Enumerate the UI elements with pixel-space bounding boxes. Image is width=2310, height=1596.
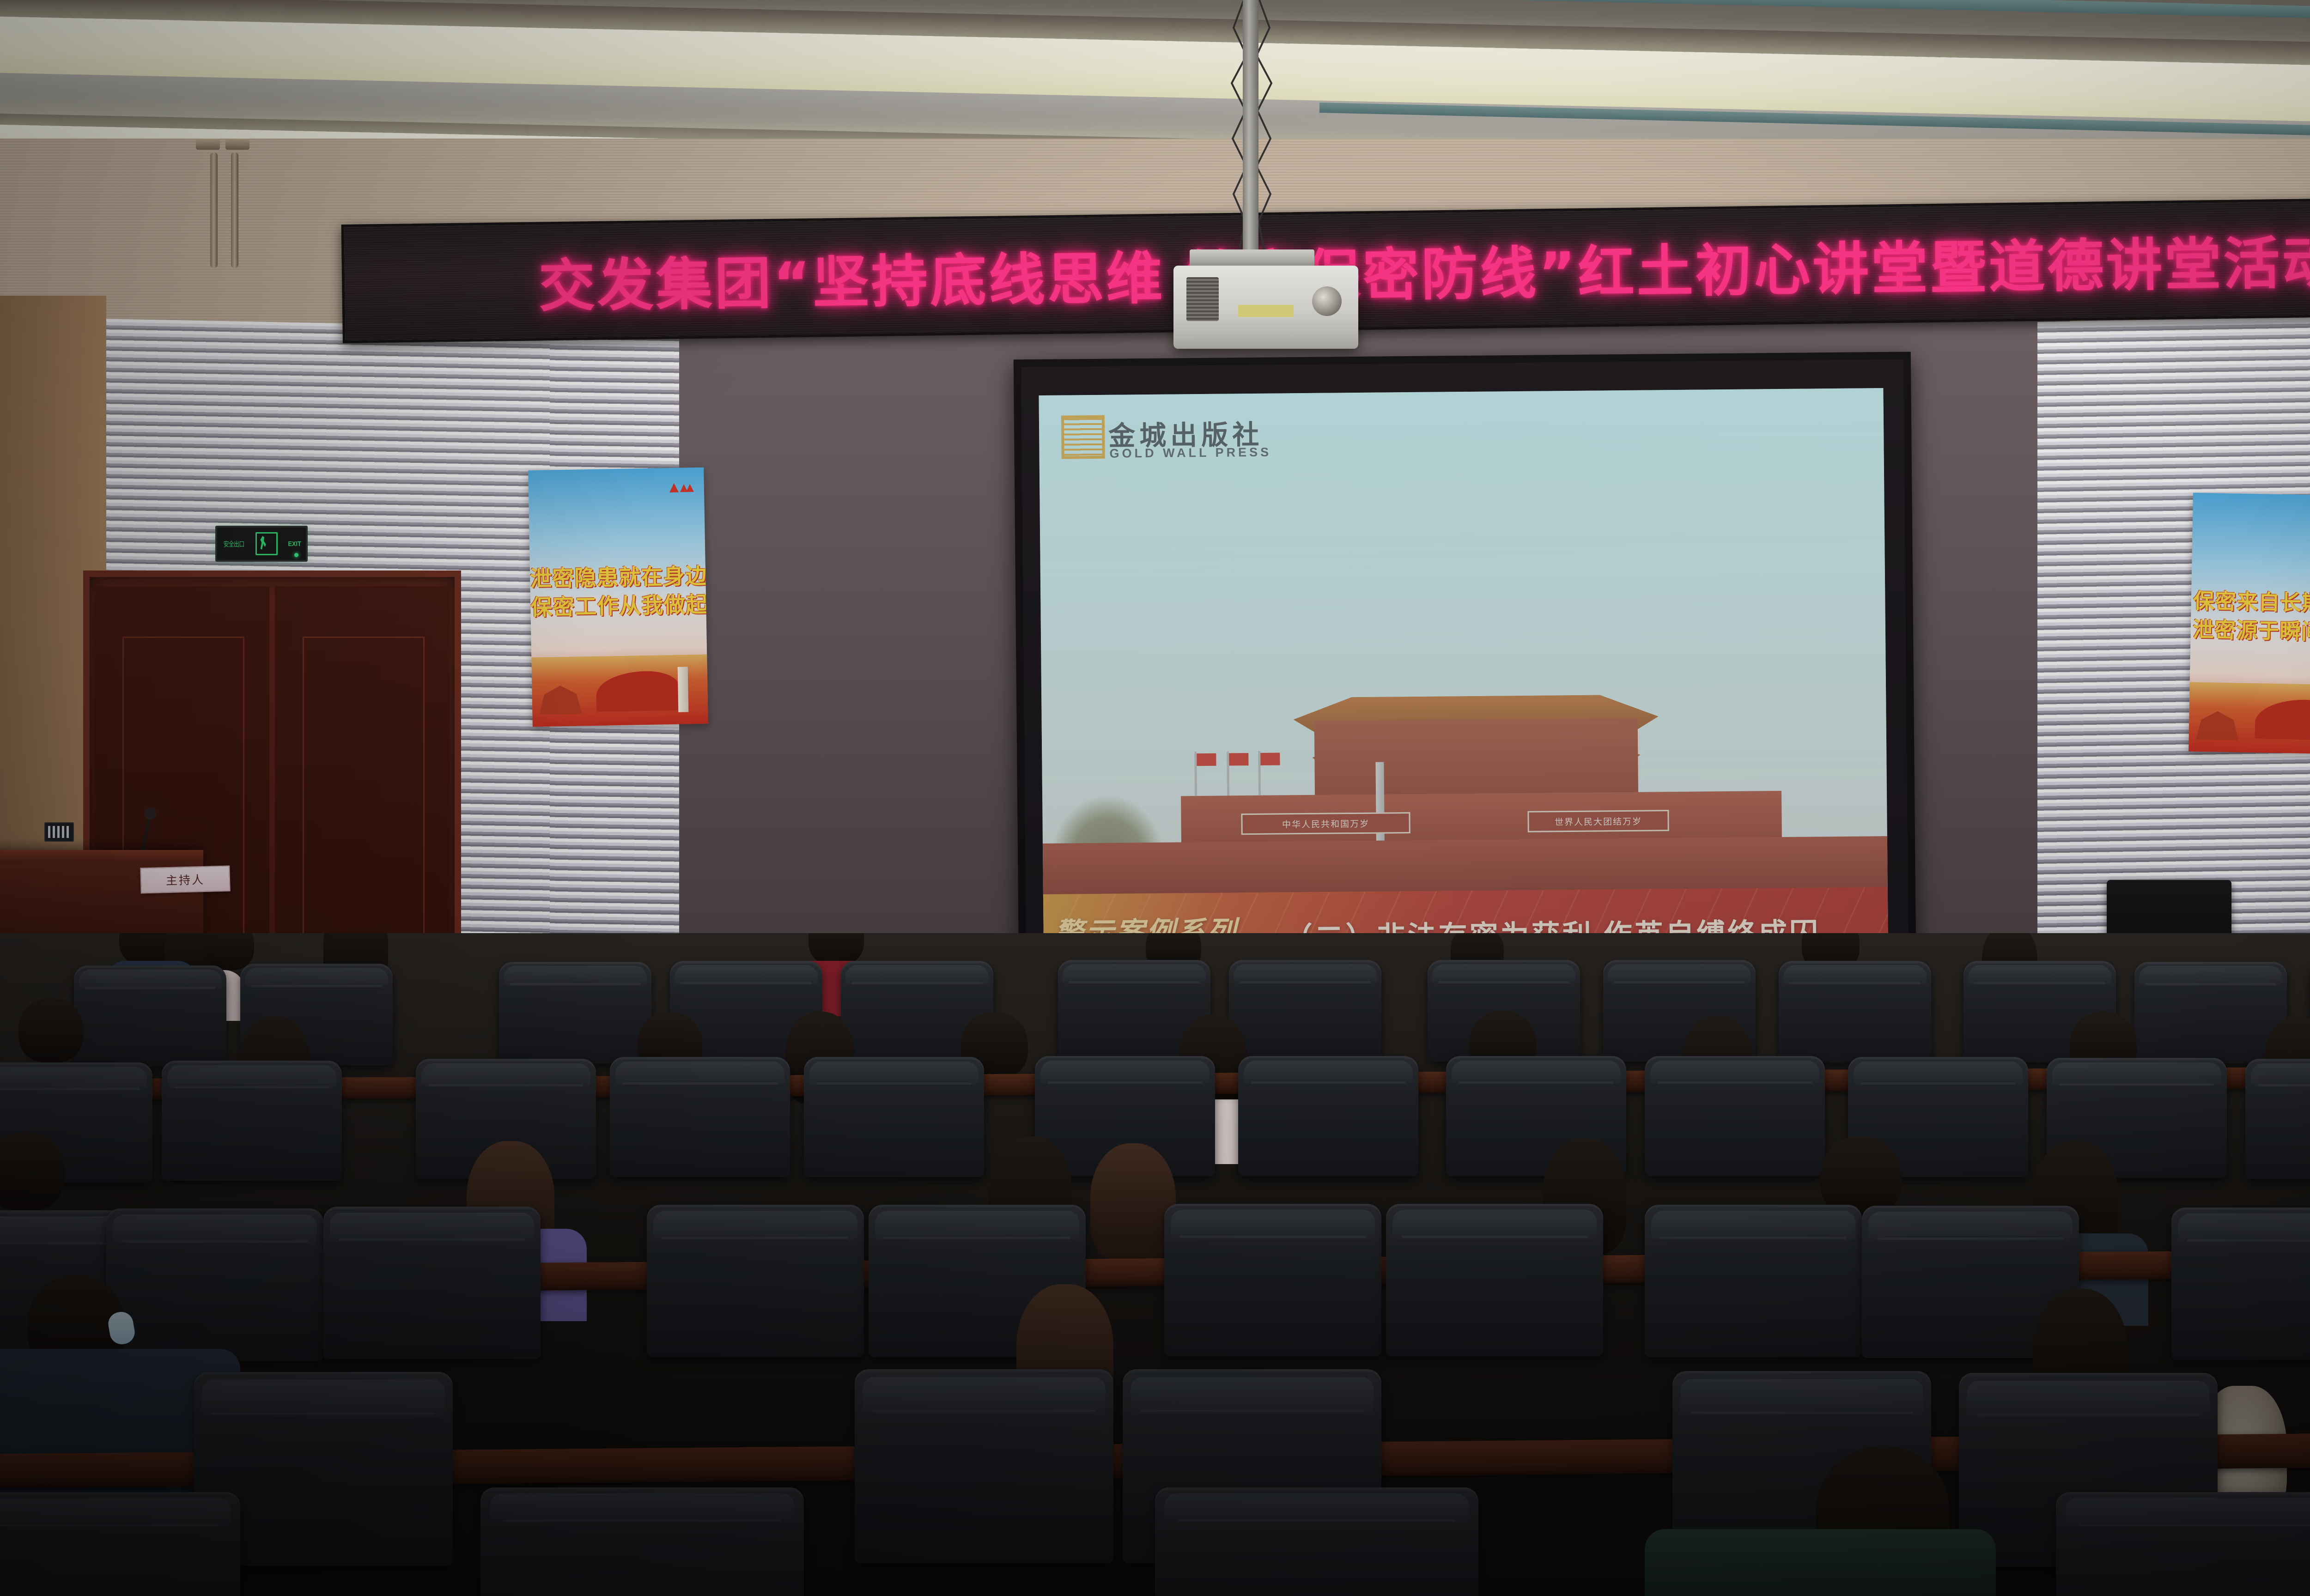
poster-column-graphic: [678, 667, 689, 712]
exit-label-en: EXIT: [288, 540, 301, 548]
auditorium-seat[interactable]: [1645, 1056, 1825, 1176]
door-handle-right[interactable]: [231, 152, 238, 268]
auditorium-seat[interactable]: [74, 965, 226, 1067]
audience-head: [1090, 1143, 1176, 1261]
projector-label: [1238, 305, 1294, 317]
projector-lens: [1312, 286, 1342, 316]
auditorium-seat[interactable]: [162, 1061, 342, 1181]
auditorium-seat[interactable]: [1779, 961, 1931, 1062]
auditorium-seat[interactable]: [2134, 962, 2287, 1063]
auditorium-seat[interactable]: [106, 1208, 323, 1361]
exit-label-cn: 安全出口: [224, 539, 244, 549]
birds-icon: ▲▴▴: [666, 478, 692, 497]
auditorium-seat[interactable]: [2245, 1059, 2310, 1179]
exit-status-led-icon: [294, 553, 298, 557]
slogan-board-left: 中华人民共和国万岁: [1241, 812, 1410, 835]
auditorium-seat[interactable]: [2171, 1208, 2310, 1360]
auditorium-seat[interactable]: [1229, 960, 1381, 1062]
wall-poster-right: ▲▴▴ 保密来自长期警惕 泄密源于瞬间麻痹: [2188, 493, 2310, 755]
gold-wall-press-seal-icon: [1061, 415, 1105, 459]
door-handle-top-right[interactable]: [225, 139, 249, 150]
auditorium-seat[interactable]: [2056, 1492, 2310, 1596]
podium-top-edge: [0, 850, 203, 863]
auditorium-seat[interactable]: [647, 1205, 864, 1357]
projected-slide: 金城出版社 GOLD WALL PRESS 中华人民共和国万岁 世界人民大团结万…: [1039, 388, 1888, 987]
door-handle-left[interactable]: [210, 152, 218, 268]
poster-gate-graphic: [2188, 682, 2310, 755]
auditorium-seat[interactable]: [855, 1369, 1113, 1563]
projection-screen: 金城出版社 GOLD WALL PRESS 中华人民共和国万岁 世界人民大团结万…: [1014, 352, 1916, 1021]
audience-seating-area: [0, 933, 2310, 1596]
poster-right-line-2: 泄密源于瞬间麻痹: [2190, 613, 2310, 647]
auditorium-seat[interactable]: [1155, 1487, 1478, 1596]
auditorium-seat[interactable]: [323, 1207, 541, 1359]
running-man-icon: [255, 532, 278, 555]
projector-vent: [1186, 277, 1219, 321]
publisher-name-en: GOLD WALL PRESS: [1109, 445, 1271, 461]
wall-poster-left: ▲▴▴ 泄密隐患就在身边 保密工作从我做起: [528, 467, 708, 727]
wall-control-panel[interactable]: [44, 822, 74, 842]
conference-hall-photo: 交发集团“坚持底线思维 筑牢保密防线”红土初心讲堂暨道德讲堂活动 金城出版社 G…: [0, 0, 2310, 1596]
slogan-board-right: 世界人民大团结万岁: [1527, 810, 1669, 832]
poster-left-line-2: 保密工作从我做起: [530, 587, 706, 622]
auditorium-seat[interactable]: [480, 1487, 804, 1596]
auditorium-seat[interactable]: [1386, 1204, 1603, 1356]
auditorium-seat[interactable]: [1645, 1205, 1862, 1357]
auditorium-seat[interactable]: [1164, 1204, 1381, 1356]
auditorium-seat[interactable]: [804, 1057, 984, 1177]
host-name-card: 主持人: [140, 865, 230, 893]
audience-body: [1645, 1529, 1996, 1596]
emergency-exit-sign: 安全出口 EXIT: [215, 526, 308, 562]
auditorium-seat[interactable]: [1238, 1056, 1418, 1176]
auditorium-seat[interactable]: [499, 962, 651, 1063]
audience-head: [203, 933, 254, 970]
auditorium-seat[interactable]: [610, 1057, 790, 1177]
door-handle-top-left[interactable]: [196, 139, 220, 150]
projector-mount-pole: [1243, 0, 1258, 259]
audience-head: [18, 998, 83, 1062]
auditorium-seat[interactable]: [0, 1492, 240, 1596]
